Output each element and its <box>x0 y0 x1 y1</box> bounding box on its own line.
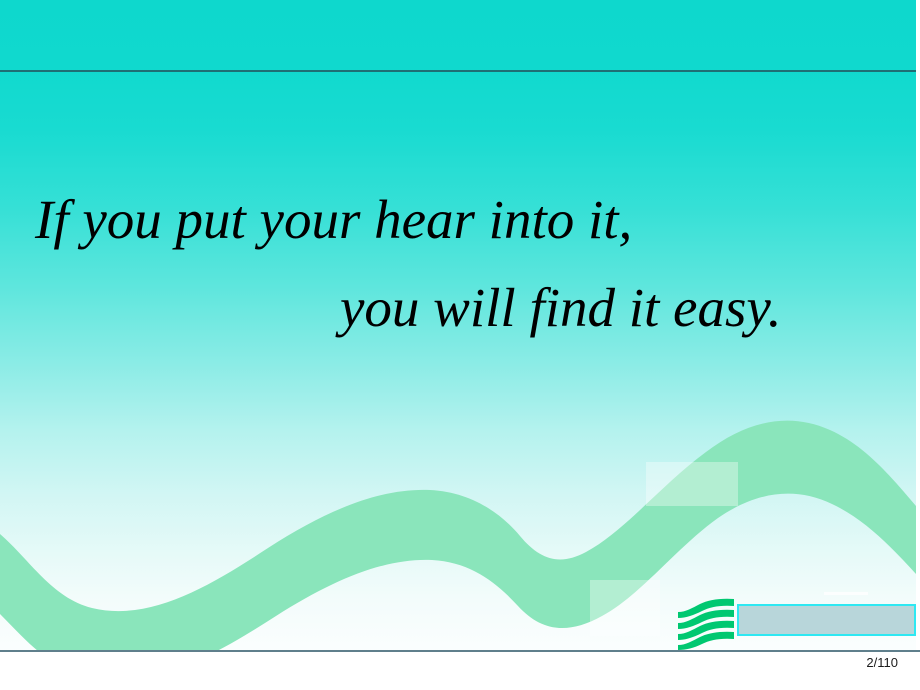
slide-background: If you put your hear into it, you will f… <box>0 0 916 652</box>
logo-placeholder-bar <box>737 604 916 636</box>
slide-canvas: If you put your hear into it, you will f… <box>0 0 920 690</box>
footer-divider <box>0 650 920 652</box>
ghost-block-1 <box>646 462 738 506</box>
ghost-block-2 <box>590 580 660 636</box>
page-number: 2/110 <box>0 655 898 670</box>
header-divider <box>0 70 916 72</box>
quote-text-block: If you put your hear into it, you will f… <box>0 176 916 352</box>
quote-line-1: If you put your hear into it, <box>0 176 916 264</box>
quote-line-2: you will find it easy. <box>0 264 916 352</box>
logo-highlight-streak <box>824 592 868 595</box>
wavy-flag-logo-icon <box>676 598 742 650</box>
